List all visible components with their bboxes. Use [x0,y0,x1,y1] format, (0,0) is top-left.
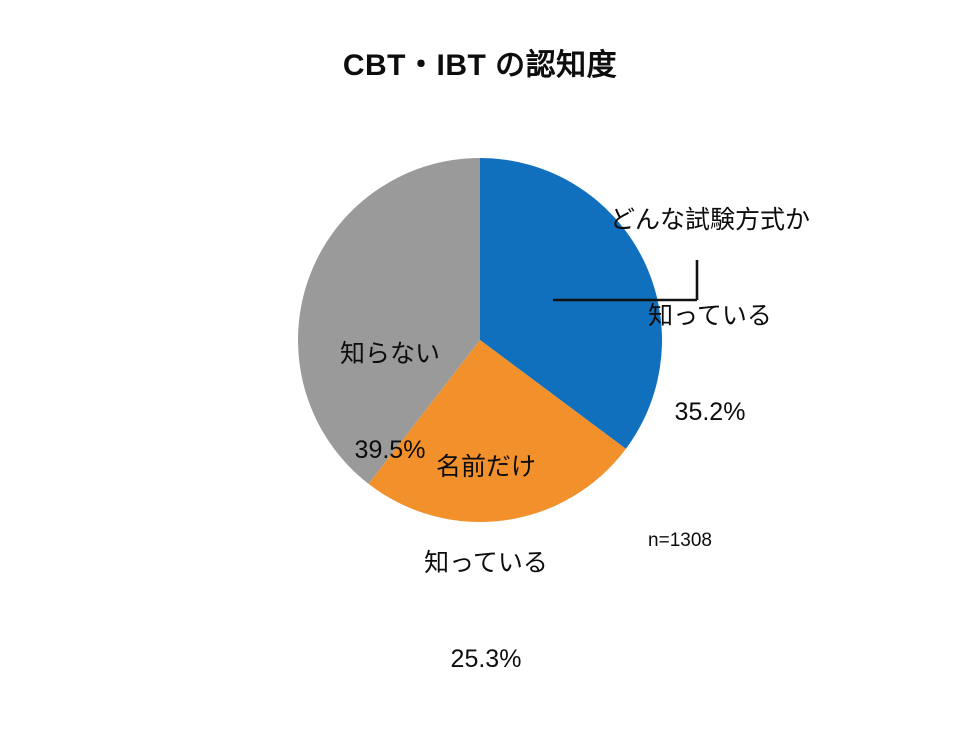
chart-canvas: CBT・IBT の認知度 知らない 39.5% 名前だけ 知っている 25.3%… [0,0,960,600]
pie-label-knows-name-only: 名前だけ 知っている 25.3% [396,387,576,739]
pie-label-knows-format-line-1: どんな試験方式か [565,204,855,236]
pie-label-knows-format-line-2: 知っている [565,300,855,332]
pie-label-knows-name-only-line-2: 知っている [396,547,576,579]
pie-label-does-not-know-line-1: 知らない [300,338,480,370]
pie-label-knows-format: どんな試験方式か 知っている 35.2% [565,140,855,492]
pie-label-knows-format-value: 35.2% [565,396,855,428]
sample-size-note: n=1308 [600,530,760,552]
pie-label-knows-name-only-value: 25.3% [396,643,576,675]
pie-label-knows-name-only-line-1: 名前だけ [396,451,576,483]
